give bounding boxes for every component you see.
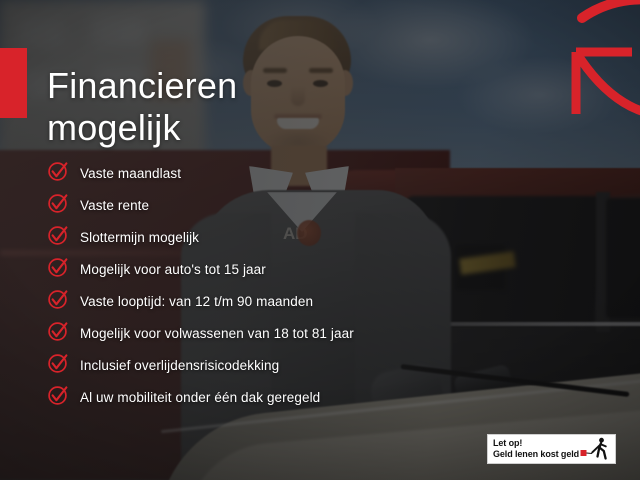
- red-check-circle-icon: [47, 352, 69, 374]
- warning-line-1: Let op!: [493, 438, 579, 449]
- list-item: Vaste rente: [47, 190, 607, 222]
- list-item: Vaste maandlast: [47, 158, 607, 190]
- title-line-2: mogelijk: [47, 107, 467, 149]
- status-badge: Let op! Geld lenen kost geld: [487, 434, 616, 464]
- title-line-1: Financieren: [47, 65, 467, 107]
- list-item-label: Inclusief overlijdensrisicodekking: [80, 359, 279, 373]
- list-item-label: Vaste rente: [80, 199, 149, 213]
- man-dragging-block-icon: [580, 437, 610, 461]
- list-item-label: Al uw mobiliteit onder één dak geregeld: [80, 391, 320, 405]
- list-item: Inclusief overlijdensrisicodekking: [47, 350, 607, 382]
- warning-text: Let op! Geld lenen kost geld: [493, 438, 579, 461]
- list-item: Mogelijk voor auto's tot 15 jaar: [47, 254, 607, 286]
- list-item: Vaste looptijd: van 12 t/m 90 maanden: [47, 286, 607, 318]
- list-item-label: Mogelijk voor volwassenen van 18 tot 81 …: [80, 327, 354, 341]
- warning-line-2: Geld lenen kost geld: [493, 449, 579, 460]
- list-item-label: Vaste maandlast: [80, 167, 181, 181]
- red-check-circle-icon: [47, 192, 69, 214]
- red-check-circle-icon: [47, 160, 69, 182]
- red-check-circle-icon: [47, 320, 69, 342]
- promo-banner: AD Financieren mogelijk: [0, 0, 640, 480]
- banner-content: Financieren mogelijk Vaste maandlast: [0, 0, 640, 480]
- list-item-label: Mogelijk voor auto's tot 15 jaar: [80, 263, 266, 277]
- list-item: Al uw mobiliteit onder één dak geregeld: [47, 382, 607, 414]
- red-check-circle-icon: [47, 224, 69, 246]
- list-item: Mogelijk voor volwassenen van 18 tot 81 …: [47, 318, 607, 350]
- list-item: Slottermijn mogelijk: [47, 222, 607, 254]
- benefits-list: Vaste maandlast Vaste rente: [47, 158, 607, 414]
- red-check-circle-icon: [47, 384, 69, 406]
- red-check-circle-icon: [47, 256, 69, 278]
- list-item-label: Vaste looptijd: van 12 t/m 90 maanden: [80, 295, 313, 309]
- list-item-label: Slottermijn mogelijk: [80, 231, 199, 245]
- page-title: Financieren mogelijk: [47, 65, 467, 149]
- red-check-circle-icon: [47, 288, 69, 310]
